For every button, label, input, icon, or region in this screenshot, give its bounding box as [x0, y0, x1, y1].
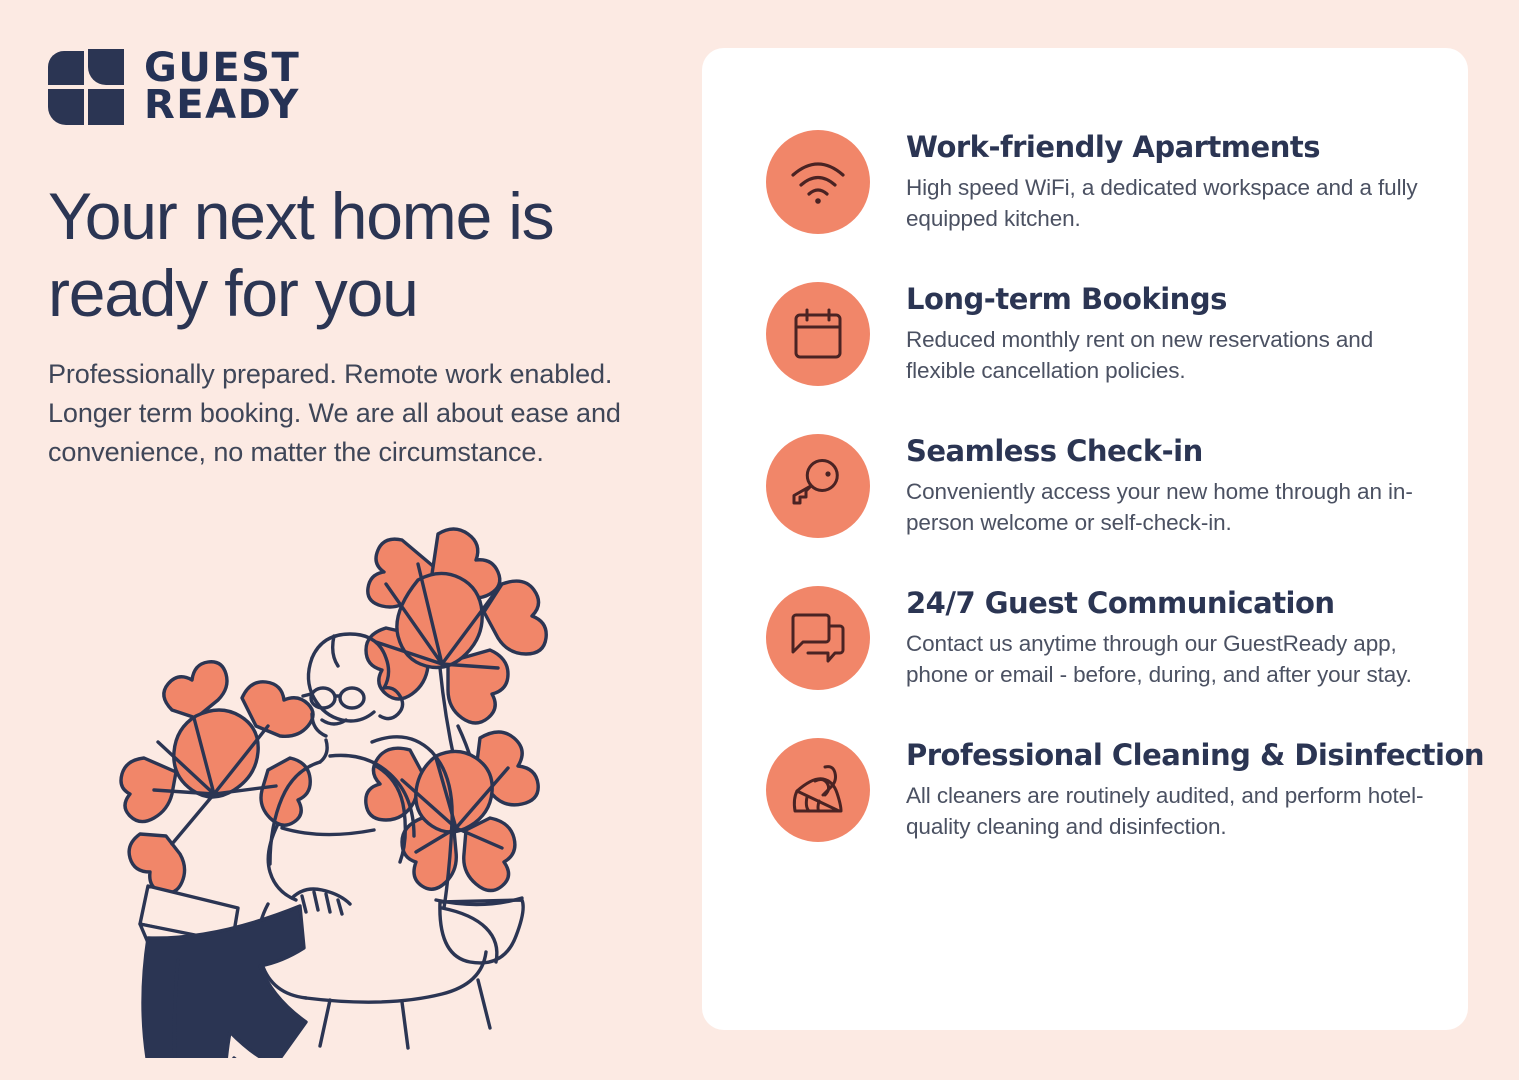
feature-description: Reduced monthly rent on new reservations… [906, 325, 1432, 386]
feature-description: Contact us anytime through our GuestRead… [906, 629, 1432, 690]
feature-item-long-term-bookings[interactable]: Long-term Bookings Reduced monthly rent … [766, 278, 1432, 386]
guestready-quadrant-logo-icon [48, 49, 124, 125]
feature-text: Professional Cleaning & Disinfection All… [906, 734, 1484, 842]
chat-bubbles-icon [766, 586, 870, 690]
feature-description: High speed WiFi, a dedicated workspace a… [906, 173, 1432, 234]
feature-item-seamless-check-in[interactable]: Seamless Check-in Conveniently access yo… [766, 430, 1432, 538]
brand-name-line2: READY [144, 87, 300, 124]
feature-title: Seamless Check-in [906, 434, 1432, 468]
feature-title: Professional Cleaning & Disinfection [906, 738, 1484, 772]
wifi-icon [766, 130, 870, 234]
calendar-icon [766, 282, 870, 386]
hero-column: GUEST READY Your next home is ready for … [48, 46, 688, 1036]
brand-logo[interactable]: GUEST READY [48, 46, 688, 128]
feature-list: Work-friendly Apartments High speed WiFi… [766, 126, 1432, 842]
feature-text: Seamless Check-in Conveniently access yo… [906, 430, 1432, 538]
feature-title: 24/7 Guest Communication [906, 586, 1432, 620]
key-icon [766, 434, 870, 538]
hero-illustration [86, 518, 606, 1058]
feature-text: Work-friendly Apartments High speed WiFi… [906, 126, 1432, 234]
brand-wordmark: GUEST READY [144, 50, 300, 124]
feature-item-guest-communication[interactable]: 24/7 Guest Communication Contact us anyt… [766, 582, 1432, 690]
feature-text: Long-term Bookings Reduced monthly rent … [906, 278, 1432, 386]
feature-title: Long-term Bookings [906, 282, 1432, 316]
features-card: Work-friendly Apartments High speed WiFi… [702, 48, 1468, 1030]
feature-item-professional-cleaning[interactable]: Professional Cleaning & Disinfection All… [766, 734, 1432, 842]
feature-text: 24/7 Guest Communication Contact us anyt… [906, 582, 1432, 690]
page-title: Your next home is ready for you [48, 178, 668, 331]
promo-page: GUEST READY Your next home is ready for … [0, 0, 1519, 1080]
broom-icon [766, 738, 870, 842]
feature-description: Conveniently access your new home throug… [906, 477, 1432, 538]
feature-item-work-friendly-apartments[interactable]: Work-friendly Apartments High speed WiFi… [766, 126, 1432, 234]
feature-title: Work-friendly Apartments [906, 130, 1432, 164]
page-subtitle: Professionally prepared. Remote work ena… [48, 355, 638, 472]
feature-description: All cleaners are routinely audited, and … [906, 781, 1451, 842]
